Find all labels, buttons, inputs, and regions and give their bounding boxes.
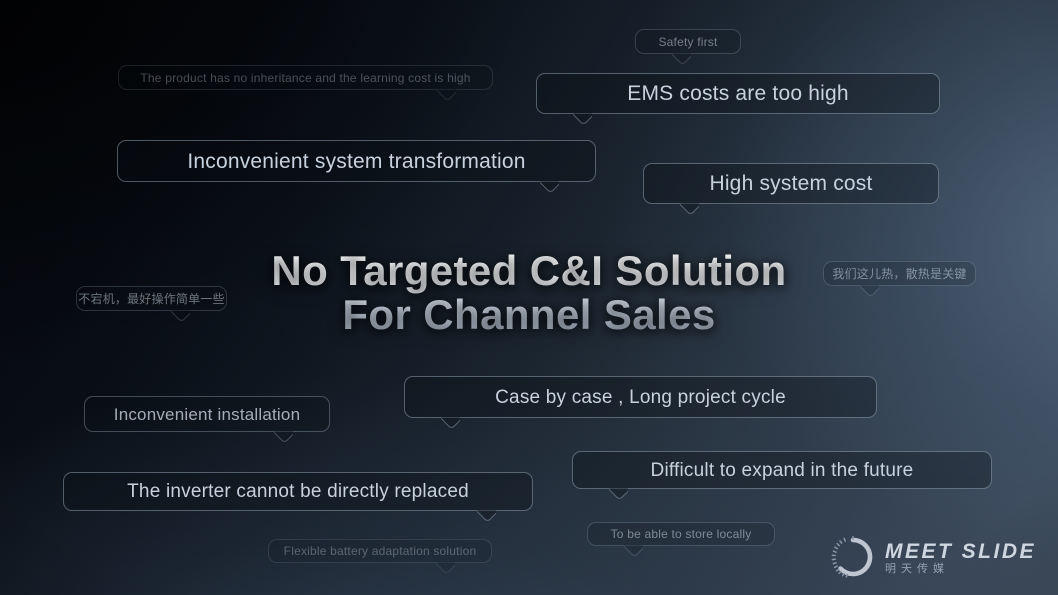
- bubble-inverter-cannot-replace[interactable]: The inverter cannot be directly replaced: [63, 472, 533, 511]
- bubble-tail-icon: [672, 53, 691, 65]
- bubble-label: To be able to store locally: [611, 528, 752, 540]
- logo-wordmarks: MEET SLIDE 明天传媒: [885, 541, 1036, 574]
- bubble-label: Safety first: [658, 36, 717, 48]
- page-title-line-1: No Targeted C&I Solution: [0, 249, 1058, 293]
- bubble-tail-icon: [441, 417, 460, 429]
- bubble-tail-icon: [540, 181, 559, 193]
- bubble-label: Flexible battery adaptation solution: [284, 545, 477, 557]
- bubble-tail-icon: [573, 113, 592, 125]
- ring-logo-icon: [831, 535, 875, 579]
- bubble-label: Case by case , Long project cycle: [495, 388, 786, 407]
- bubble-tail-icon: [437, 89, 456, 101]
- bubble-flexible-battery[interactable]: Flexible battery adaptation solution: [268, 539, 492, 563]
- bubble-tail-icon: [609, 488, 628, 500]
- page-title-line-2: For Channel Sales: [0, 293, 1058, 337]
- logo-brand-text: MEET SLIDE: [885, 541, 1036, 562]
- bubble-safety-first[interactable]: Safety first: [635, 29, 741, 54]
- bubble-inconvenient-system-transformation[interactable]: Inconvenient system transformation: [117, 140, 596, 182]
- bubble-label: High system cost: [709, 173, 872, 194]
- brand-logo: MEET SLIDE 明天传媒: [831, 535, 1036, 579]
- bubble-label: Inconvenient system transformation: [187, 151, 525, 172]
- bubble-tail-icon: [477, 510, 496, 522]
- bubble-tail-icon: [436, 562, 455, 574]
- bubble-tail-icon: [680, 203, 699, 215]
- bubble-high-system-cost[interactable]: High system cost: [643, 163, 939, 204]
- bubble-label: EMS costs are too high: [627, 83, 849, 104]
- bubble-label: Inconvenient installation: [114, 406, 300, 423]
- bubble-label: The product has no inheritance and the l…: [140, 72, 470, 84]
- bubble-label: Difficult to expand in the future: [651, 461, 914, 480]
- slide-canvas: Safety first The product has no inherita…: [0, 0, 1058, 595]
- bubble-store-locally[interactable]: To be able to store locally: [587, 522, 775, 546]
- bubble-inconvenient-installation[interactable]: Inconvenient installation: [84, 396, 330, 432]
- logo-brand-text-cn: 明天传媒: [885, 563, 1036, 574]
- bubble-ems-costs-too-high[interactable]: EMS costs are too high: [536, 73, 940, 114]
- bubble-case-by-case[interactable]: Case by case , Long project cycle: [404, 376, 877, 418]
- bubble-product-no-inheritance[interactable]: The product has no inheritance and the l…: [118, 65, 493, 90]
- page-title: No Targeted C&I Solution For Channel Sal…: [0, 249, 1058, 336]
- bubble-difficult-to-expand[interactable]: Difficult to expand in the future: [572, 451, 992, 489]
- bubble-tail-icon: [624, 545, 643, 557]
- bubble-tail-icon: [274, 431, 293, 443]
- bubble-label: The inverter cannot be directly replaced: [127, 482, 469, 501]
